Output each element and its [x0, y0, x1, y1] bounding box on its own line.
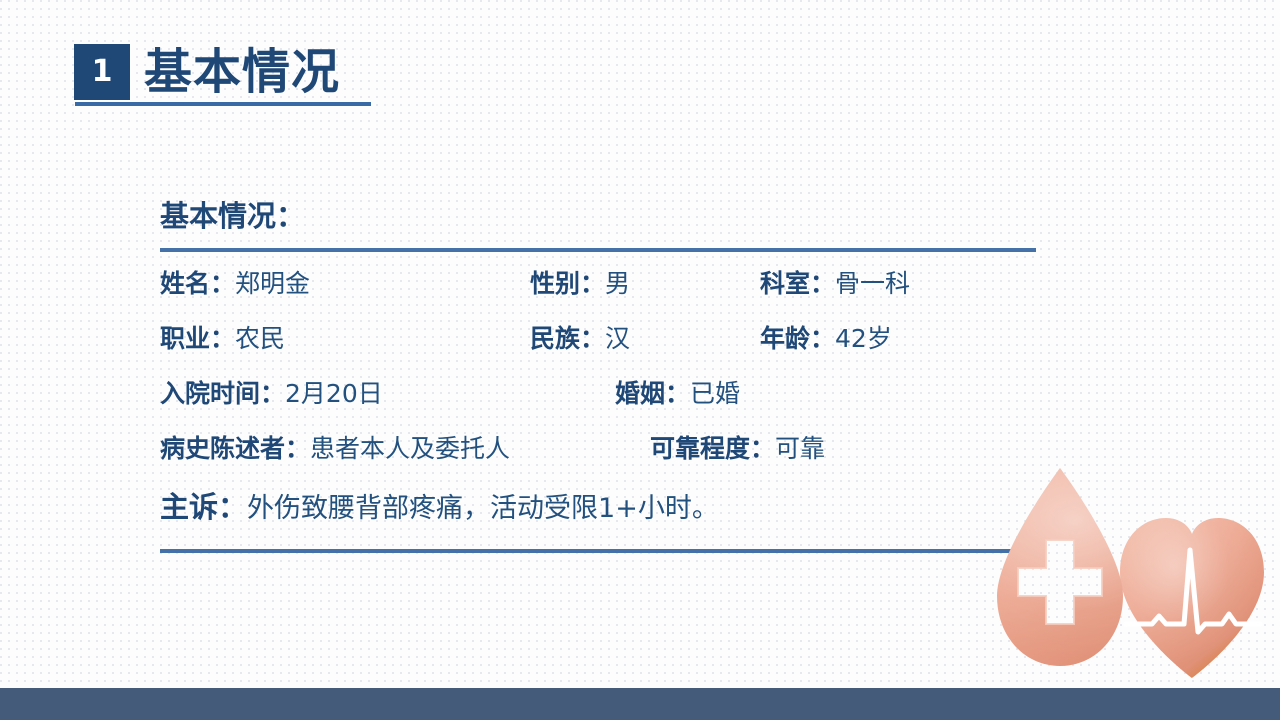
- field-age: 年龄：42岁: [760, 311, 892, 369]
- field-gender-value: 男: [605, 269, 630, 298]
- field-reliability-label: 可靠程度：: [650, 434, 775, 463]
- field-narrator: 病史陈述者：患者本人及委托人: [160, 421, 510, 479]
- field-narrator-value: 患者本人及委托人: [310, 434, 510, 463]
- header-underline: [75, 102, 371, 106]
- field-occupation-value: 农民: [235, 324, 285, 353]
- field-gender: 性别：男: [530, 256, 630, 314]
- field-name: 姓名：郑明金: [160, 256, 310, 314]
- footer-bar: [0, 688, 1280, 720]
- field-narrator-label: 病史陈述者：: [160, 434, 310, 463]
- field-marriage: 婚姻：已婚: [615, 366, 740, 424]
- field-ethnicity-value: 汉: [605, 324, 630, 353]
- patient-info-rows: 姓名：郑明金 性别：男 科室：骨一科 职业：农民 民族：汉 年龄：42岁: [160, 252, 1040, 538]
- field-department-label: 科室：: [760, 269, 835, 298]
- slide-header: 1 基本情况: [74, 44, 474, 116]
- field-reliability: 可靠程度：可靠: [650, 421, 825, 479]
- field-ethnicity-label: 民族：: [530, 324, 605, 353]
- divider-bottom: [160, 549, 1036, 553]
- field-name-label: 姓名：: [160, 269, 235, 298]
- field-admission-time: 入院时间：2月20日: [160, 366, 383, 424]
- slide-canvas: 1 基本情况 基本情况： 姓名：郑明金 性别：男 科室：骨一科: [0, 0, 1280, 720]
- field-occupation-label: 职业：: [160, 324, 235, 353]
- field-admission-time-label: 入院时间：: [160, 379, 285, 408]
- field-age-value: 42岁: [835, 324, 892, 353]
- field-chief-complaint: 主诉：外伤致腰背部疼痛，活动受限1+小时。: [160, 476, 719, 543]
- table-row: 病史陈述者：患者本人及委托人 可靠程度：可靠: [160, 421, 1040, 476]
- table-row: 姓名：郑明金 性别：男 科室：骨一科: [160, 256, 1040, 311]
- field-chief-complaint-value: 外伤致腰背部疼痛，活动受限1+小时。: [247, 493, 719, 524]
- table-row: 入院时间：2月20日 婚姻：已婚: [160, 366, 1040, 421]
- field-gender-label: 性别：: [530, 269, 605, 298]
- section-number-badge: 1: [74, 44, 130, 100]
- field-marriage-value: 已婚: [690, 379, 740, 408]
- field-admission-time-value: 2月20日: [285, 379, 383, 408]
- field-occupation: 职业：农民: [160, 311, 285, 369]
- page-title: 基本情况: [144, 40, 340, 104]
- blood-drop-icon: [960, 460, 1280, 692]
- field-department-value: 骨一科: [835, 269, 910, 298]
- medical-decoration: [960, 460, 1280, 692]
- table-row: 主诉：外伤致腰背部疼痛，活动受限1+小时。: [160, 476, 1040, 538]
- table-row: 职业：农民 民族：汉 年龄：42岁: [160, 311, 1040, 366]
- patient-info-block: 基本情况： 姓名：郑明金 性别：男 科室：骨一科 职业：农民: [160, 196, 1040, 553]
- field-age-label: 年龄：: [760, 324, 835, 353]
- field-ethnicity: 民族：汉: [530, 311, 630, 369]
- section-title: 基本情况：: [160, 196, 1040, 236]
- field-marriage-label: 婚姻：: [615, 379, 690, 408]
- field-chief-complaint-label: 主诉：: [160, 490, 247, 524]
- field-name-value: 郑明金: [235, 269, 310, 298]
- field-department: 科室：骨一科: [760, 256, 910, 314]
- field-reliability-value: 可靠: [775, 434, 825, 463]
